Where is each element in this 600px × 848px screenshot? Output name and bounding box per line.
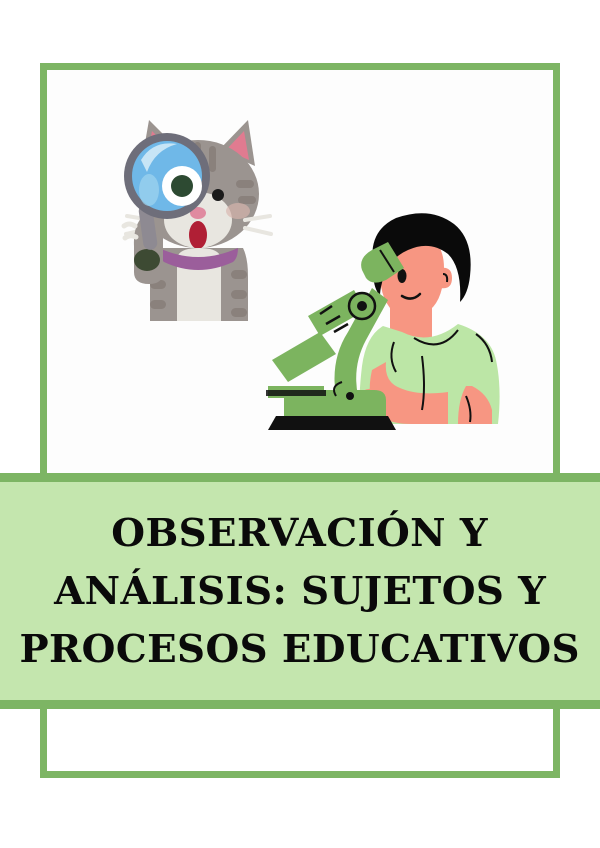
title-line-2: ANÁLISIS: SUJETOS Y (54, 562, 546, 620)
poster-page: OBSERVACIÓN Y ANÁLISIS: SUJETOS Y PROCES… (0, 0, 600, 848)
title-band: OBSERVACIÓN Y ANÁLISIS: SUJETOS Y PROCES… (0, 473, 600, 709)
boy-at-microscope-illustration (262, 210, 522, 445)
title-line-1: OBSERVACIÓN Y (112, 504, 489, 562)
illustration-area (47, 70, 553, 473)
title-band-inner: OBSERVACIÓN Y ANÁLISIS: SUJETOS Y PROCES… (0, 482, 600, 700)
title-line-3: PROCESOS EDUCATIVOS (20, 620, 580, 678)
